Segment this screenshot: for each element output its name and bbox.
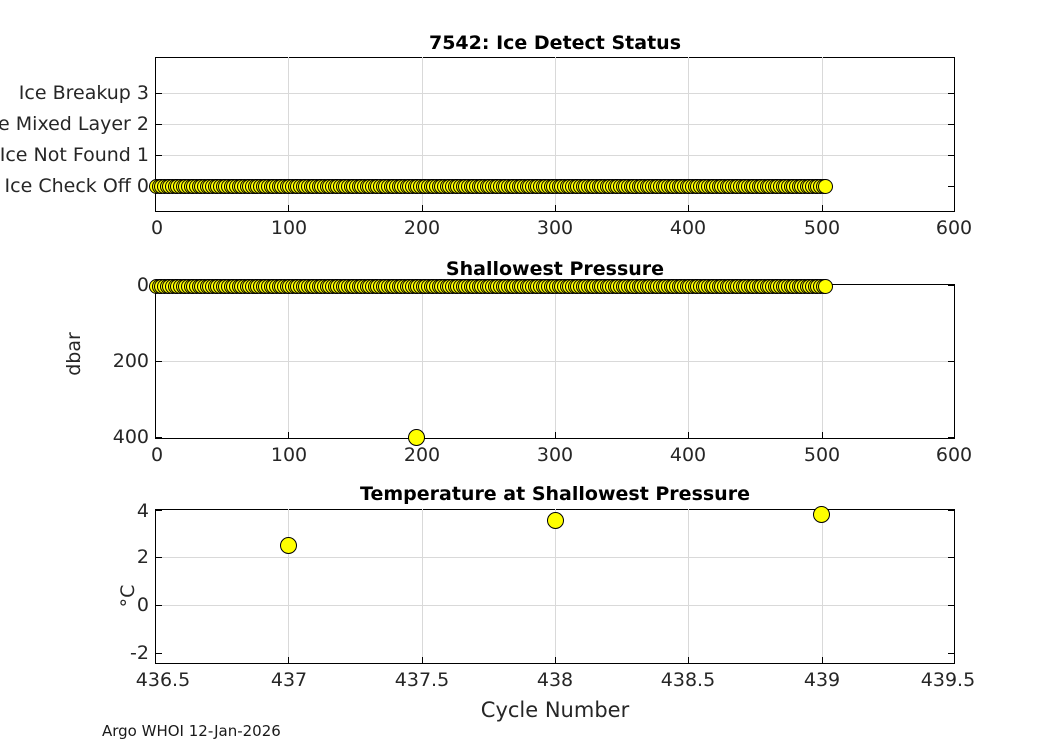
figure-xlabel: Cycle Number xyxy=(481,698,629,722)
matlab-figure: 7542: Ice Detect Status Ice Breakup 3 e … xyxy=(0,0,1050,750)
subplot-temperature-shallowest-pressure: Temperature at Shallowest Pressure 4 2 0… xyxy=(0,0,1050,750)
subplot-3-data-series xyxy=(0,0,1050,750)
data-point xyxy=(280,537,297,554)
data-point xyxy=(547,512,564,529)
figure-footer-credit: Argo WHOI 12-Jan-2026 xyxy=(102,722,281,740)
data-point xyxy=(813,506,830,523)
